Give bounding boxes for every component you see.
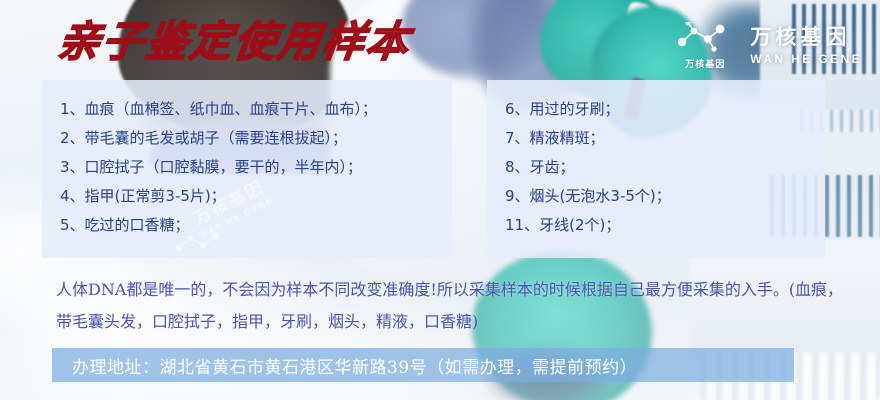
explanation-paragraph: 人体DNA都是唯一的，不会因为样本不同改变准确度!所以采集样本的时候根据自己最方… [56,274,846,338]
brand-mark: 万核基因 [674,22,736,70]
address-bar: 办理地址：湖北省黄石市黄石港区华新路39号（如需办理，需提前预约） [52,348,794,382]
page-title: 亲子鉴定使用样本 [55,22,413,64]
list-item: 11、牙线(2个)； [505,211,825,240]
brand-text: 万核基因 WAN HE GENE [750,26,862,65]
list-item: 4、指甲(正常剪3-5片)； [60,182,452,211]
poster: 亲子鉴定使用样本 万核基因 万核基因 WAN HE GENE [0,0,880,400]
dna-molecule-icon [674,22,736,54]
brand-mark-subtitle: 万核基因 [685,57,725,70]
address-bar-text: 办理地址：湖北省黄石市黄石港区华新路39号（如需办理，需提前预约） [52,353,637,378]
brand-name-en: WAN HE GENE [750,52,862,66]
brand-name-cn: 万核基因 [750,26,862,49]
brand-logo: 万核基因 万核基因 WAN HE GENE [674,22,862,70]
sample-list-panel-left: 万核基因 WAN HE GENE 1、血痕（血棉签、纸巾血、血痕干片、血布）； … [42,80,452,258]
list-item: 7、精液精斑； [505,124,825,153]
list-item: 9、烟头(无泡水3-5个)； [505,182,825,211]
sample-list-right: 6、用过的牙刷； 7、精液精斑； 8、牙齿； 9、烟头(无泡水3-5个)； 11… [487,80,825,240]
sample-list-panel-right: 万核基因 WAN HE GENE 6、用过的牙刷； 7、精液精斑； 8、牙齿； … [487,80,825,258]
list-item: 1、血痕（血棉签、纸巾血、血痕干片、血布）； [60,95,452,124]
list-item: 3、口腔拭子（口腔黏膜，要干的，半年内）； [60,153,452,182]
sample-list-left: 1、血痕（血棉签、纸巾血、血痕干片、血布）； 2、带毛囊的毛发或胡子（需要连根拔… [42,80,452,240]
list-item: 5、吃过的口香糖； [60,211,452,240]
list-item: 6、用过的牙刷； [505,95,825,124]
list-item: 2、带毛囊的毛发或胡子（需要连根拔起）； [60,124,452,153]
list-item: 8、牙齿； [505,153,825,182]
